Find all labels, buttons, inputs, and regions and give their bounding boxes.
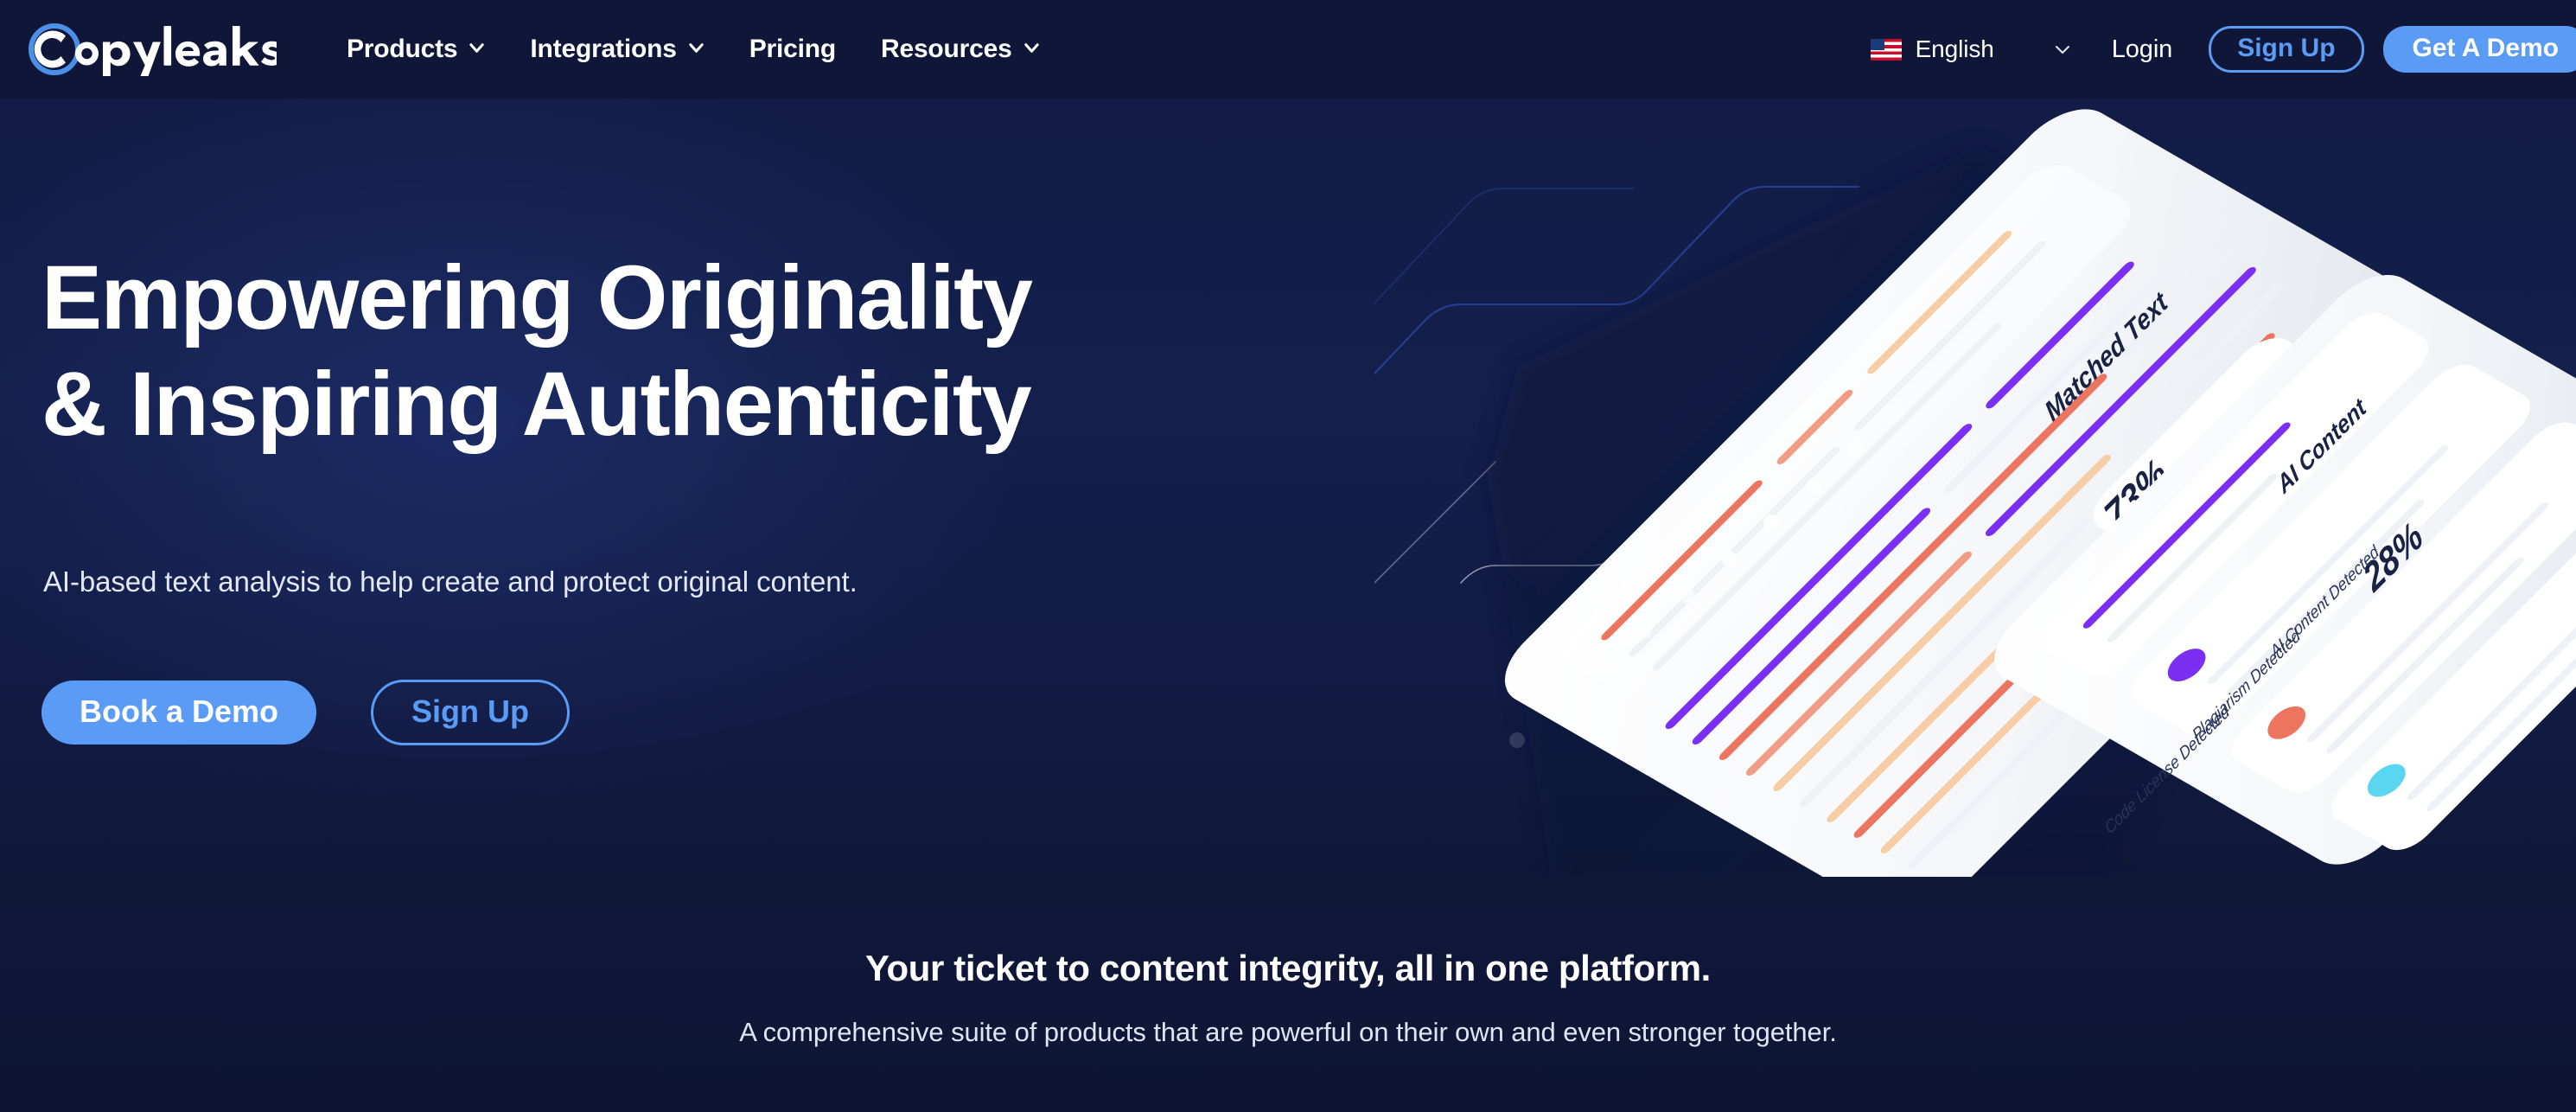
primary-nav: Products Integrations Pricing Resources bbox=[324, 35, 1062, 64]
band-decoration bbox=[17, 991, 882, 1112]
chevron-down-icon bbox=[2053, 40, 2072, 59]
copyleaks-ring-logo bbox=[26, 21, 277, 78]
nav-item-pricing[interactable]: Pricing bbox=[727, 35, 858, 64]
hero-section: Empowering Originality & Inspiring Authe… bbox=[0, 99, 2576, 877]
nav-item-resources[interactable]: Resources bbox=[858, 35, 1062, 64]
top-navbar: Products Integrations Pricing Resources bbox=[0, 0, 2576, 99]
language-label: English bbox=[1916, 35, 1994, 63]
copyleaks-logo[interactable] bbox=[26, 21, 277, 78]
nav-right-cluster: English Login Sign Up Get A Demo bbox=[1871, 26, 2576, 73]
get-a-demo-button[interactable]: Get A Demo bbox=[2383, 26, 2576, 73]
page-title: Empowering Originality & Inspiring Authe… bbox=[41, 246, 1031, 458]
chevron-down-icon bbox=[688, 40, 705, 56]
login-link[interactable]: Login bbox=[2112, 35, 2172, 64]
nav-item-resources-label: Resources bbox=[881, 35, 1012, 64]
nav-item-products-label: Products bbox=[347, 35, 457, 64]
isometric-scan-report-illustration: 73% Matched Text bbox=[1374, 99, 2576, 877]
hero-subtitle: AI-based text analysis to help create an… bbox=[43, 566, 858, 598]
platform-band: Your ticket to content integrity, all in… bbox=[0, 877, 2576, 1112]
hero-cta-row: Book a Demo Sign Up bbox=[41, 680, 570, 745]
nav-item-products[interactable]: Products bbox=[324, 35, 507, 64]
band-title: Your ticket to content integrity, all in… bbox=[0, 948, 2576, 989]
nav-item-pricing-label: Pricing bbox=[749, 35, 836, 64]
chevron-down-icon bbox=[469, 40, 485, 56]
language-selector[interactable]: English bbox=[1871, 35, 2072, 63]
signup-button-nav[interactable]: Sign Up bbox=[2209, 26, 2363, 73]
us-flag-icon bbox=[1871, 39, 1902, 61]
nav-item-integrations-label: Integrations bbox=[530, 35, 676, 64]
book-a-demo-button[interactable]: Book a Demo bbox=[41, 681, 316, 745]
chevron-down-icon bbox=[1023, 40, 1040, 56]
signup-button-hero[interactable]: Sign Up bbox=[371, 680, 570, 745]
page-root: Products Integrations Pricing Resources bbox=[0, 0, 2576, 1112]
nav-item-integrations[interactable]: Integrations bbox=[507, 35, 726, 64]
